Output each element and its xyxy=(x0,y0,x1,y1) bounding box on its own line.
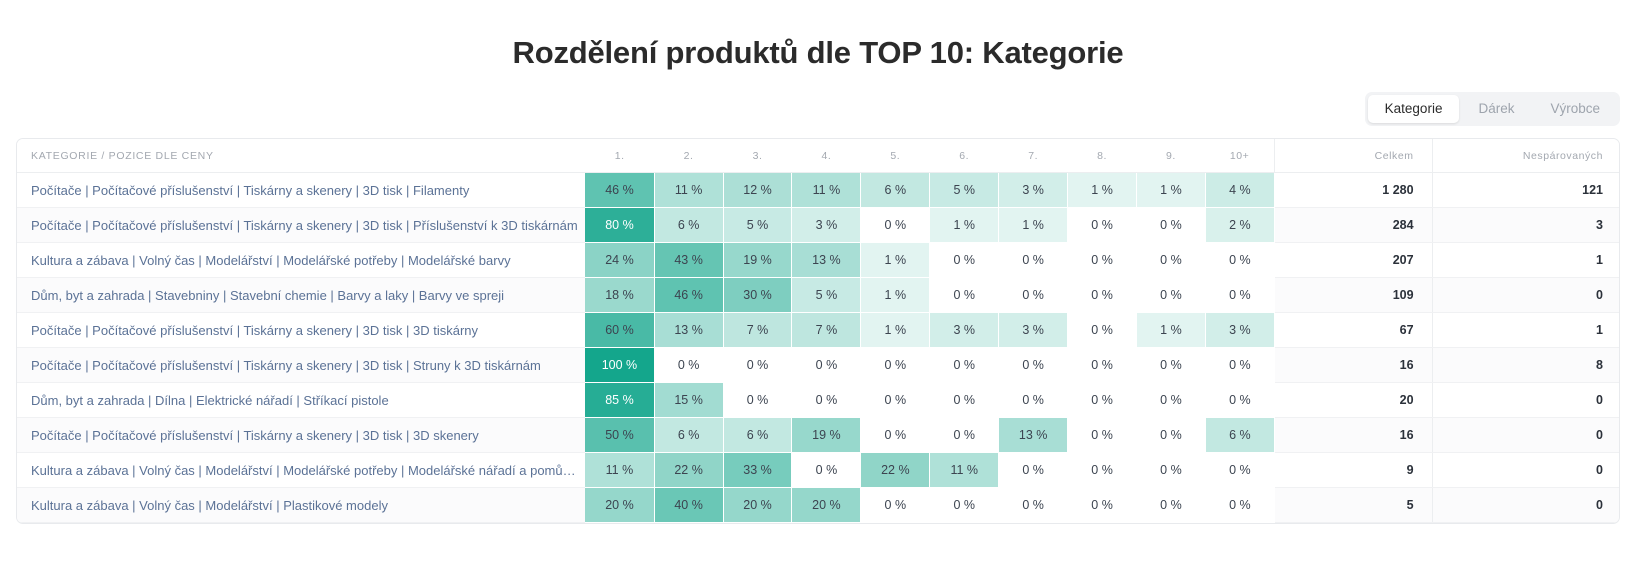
heatmap-cell[interactable]: 0 % xyxy=(930,488,999,523)
table-row[interactable]: Kultura a zábava | Volný čas | Modelářst… xyxy=(17,243,1619,278)
heatmap-cell[interactable]: 46 % xyxy=(654,278,723,313)
heatmap-cell[interactable]: 13 % xyxy=(654,313,723,348)
matrix-card: KATEGORIE / POZICE DLE CENY1.2.3.4.5.6.7… xyxy=(16,138,1620,524)
column-header-position-9[interactable]: 9. xyxy=(1137,139,1206,173)
heatmap-cell[interactable]: 0 % xyxy=(792,348,861,383)
column-header-position-10plus[interactable]: 10+ xyxy=(1205,139,1274,173)
heatmap-cell[interactable]: 0 % xyxy=(930,278,999,313)
heatmap-cell[interactable]: 1 % xyxy=(861,313,930,348)
heatmap-cell[interactable]: 46 % xyxy=(585,173,654,208)
category-label[interactable]: Počítače | Počítačové příslušenství | Ti… xyxy=(17,208,585,243)
column-header-position-6[interactable]: 6. xyxy=(930,139,999,173)
heatmap-cell[interactable]: 24 % xyxy=(585,243,654,278)
category-label[interactable]: Počítače | Počítačové příslušenství | Ti… xyxy=(17,418,585,453)
table-header-row: KATEGORIE / POZICE DLE CENY1.2.3.4.5.6.7… xyxy=(17,139,1619,173)
heatmap-cell[interactable]: 0 % xyxy=(1205,383,1274,418)
heatmap-cell[interactable]: 0 % xyxy=(1068,348,1137,383)
unmatched-value: 0 xyxy=(1432,488,1619,523)
heatmap-cell[interactable]: 1 % xyxy=(930,208,999,243)
heatmap-cell[interactable]: 13 % xyxy=(999,418,1068,453)
category-label[interactable]: Dům, byt a zahrada | Dílna | Elektrické … xyxy=(17,383,585,418)
total-value: 109 xyxy=(1274,278,1432,313)
page-title: Rozdělení produktů dle TOP 10: Kategorie xyxy=(0,32,1636,74)
heatmap-cell[interactable]: 0 % xyxy=(1068,488,1137,523)
total-value: 20 xyxy=(1274,383,1432,418)
total-value: 5 xyxy=(1274,488,1432,523)
table-row[interactable]: Kultura a zábava | Volný čas | Modelářst… xyxy=(17,453,1619,488)
heatmap-cell[interactable]: 1 % xyxy=(861,243,930,278)
heatmap-cell[interactable]: 0 % xyxy=(1068,383,1137,418)
heatmap-cell[interactable]: 15 % xyxy=(654,383,723,418)
heatmap-cell[interactable]: 11 % xyxy=(930,453,999,488)
heatmap-cell[interactable]: 5 % xyxy=(723,208,792,243)
heatmap-cell[interactable]: 0 % xyxy=(1137,418,1206,453)
heatmap-cell[interactable]: 0 % xyxy=(723,383,792,418)
heatmap-cell[interactable]: 40 % xyxy=(654,488,723,523)
heatmap-cell[interactable]: 0 % xyxy=(999,348,1068,383)
heatmap-cell[interactable]: 1 % xyxy=(1068,173,1137,208)
heatmap-cell[interactable]: 6 % xyxy=(1205,418,1274,453)
heatmap-cell[interactable]: 0 % xyxy=(1068,243,1137,278)
heatmap-cell[interactable]: 11 % xyxy=(792,173,861,208)
toggle-option-3[interactable]: Výrobce xyxy=(1533,95,1617,123)
column-header-position-1[interactable]: 1. xyxy=(585,139,654,173)
heatmap-cell[interactable]: 0 % xyxy=(1068,208,1137,243)
total-value: 16 xyxy=(1274,348,1432,383)
heatmap-cell[interactable]: 30 % xyxy=(723,278,792,313)
heatmap-cell[interactable]: 43 % xyxy=(654,243,723,278)
heatmap-cell[interactable]: 0 % xyxy=(999,488,1068,523)
heatmap-cell[interactable]: 0 % xyxy=(1205,243,1274,278)
category-label[interactable]: Dům, byt a zahrada | Stavebniny | Staveb… xyxy=(17,278,585,313)
heatmap-cell[interactable]: 22 % xyxy=(654,453,723,488)
total-value: 1 280 xyxy=(1274,173,1432,208)
heatmap-cell[interactable]: 0 % xyxy=(1137,348,1206,383)
heatmap-cell[interactable]: 1 % xyxy=(1137,173,1206,208)
heatmap-cell[interactable]: 1 % xyxy=(1137,313,1206,348)
heatmap-cell[interactable]: 50 % xyxy=(585,418,654,453)
column-header-unmatched[interactable]: Nespárovaných xyxy=(1432,139,1619,173)
heatmap-cell[interactable]: 100 % xyxy=(585,348,654,383)
column-header-position-3[interactable]: 3. xyxy=(723,139,792,173)
heatmap-cell[interactable]: 0 % xyxy=(792,383,861,418)
unmatched-value: 3 xyxy=(1432,208,1619,243)
heatmap-cell[interactable]: 0 % xyxy=(861,348,930,383)
unmatched-value: 0 xyxy=(1432,453,1619,488)
heatmap-cell[interactable]: 0 % xyxy=(930,348,999,383)
heatmap-cell[interactable]: 0 % xyxy=(1068,418,1137,453)
column-header-category[interactable]: KATEGORIE / POZICE DLE CENY xyxy=(17,139,585,173)
heatmap-cell[interactable]: 18 % xyxy=(585,278,654,313)
heatmap-cell[interactable]: 0 % xyxy=(1068,278,1137,313)
heatmap-cell[interactable]: 20 % xyxy=(792,488,861,523)
total-value: 9 xyxy=(1274,453,1432,488)
heatmap-cell[interactable]: 0 % xyxy=(1205,453,1274,488)
heatmap-cell[interactable]: 7 % xyxy=(792,313,861,348)
category-label[interactable]: Počítače | Počítačové příslušenství | Ti… xyxy=(17,173,585,208)
heatmap-cell[interactable]: 7 % xyxy=(723,313,792,348)
table-row[interactable]: Počítače | Počítačové příslušenství | Ti… xyxy=(17,418,1619,453)
column-header-position-2[interactable]: 2. xyxy=(654,139,723,173)
total-value: 284 xyxy=(1274,208,1432,243)
heatmap-cell[interactable]: 6 % xyxy=(654,208,723,243)
heatmap-cell[interactable]: 1 % xyxy=(861,278,930,313)
distribution-table: KATEGORIE / POZICE DLE CENY1.2.3.4.5.6.7… xyxy=(17,139,1619,523)
heatmap-cell[interactable]: 12 % xyxy=(723,173,792,208)
heatmap-cell[interactable]: 6 % xyxy=(861,173,930,208)
heatmap-cell[interactable]: 0 % xyxy=(1205,278,1274,313)
category-label[interactable]: Počítače | Počítačové příslušenství | Ti… xyxy=(17,313,585,348)
heatmap-cell[interactable]: 0 % xyxy=(1205,488,1274,523)
heatmap-cell[interactable]: 0 % xyxy=(999,383,1068,418)
heatmap-cell[interactable]: 22 % xyxy=(861,453,930,488)
total-value: 207 xyxy=(1274,243,1432,278)
heatmap-cell[interactable]: 6 % xyxy=(654,418,723,453)
heatmap-cell[interactable]: 0 % xyxy=(861,418,930,453)
heatmap-cell[interactable]: 3 % xyxy=(999,313,1068,348)
heatmap-cell[interactable]: 19 % xyxy=(792,418,861,453)
heatmap-cell[interactable]: 0 % xyxy=(1137,453,1206,488)
heatmap-cell[interactable]: 0 % xyxy=(1137,488,1206,523)
heatmap-cell[interactable]: 0 % xyxy=(861,383,930,418)
heatmap-cell[interactable]: 0 % xyxy=(1068,453,1137,488)
heatmap-cell[interactable]: 0 % xyxy=(1137,278,1206,313)
view-toggle-wrapper: KategorieDárekVýrobce xyxy=(0,92,1636,126)
column-header-position-5[interactable]: 5. xyxy=(861,139,930,173)
heatmap-cell[interactable]: 3 % xyxy=(930,313,999,348)
heatmap-cell[interactable]: 20 % xyxy=(723,488,792,523)
heatmap-cell[interactable]: 11 % xyxy=(654,173,723,208)
total-value: 67 xyxy=(1274,313,1432,348)
category-label[interactable]: Kultura a zábava | Volný čas | Modelářst… xyxy=(17,243,585,278)
heatmap-cell[interactable]: 0 % xyxy=(723,348,792,383)
table-row[interactable]: Počítače | Počítačové příslušenství | Ti… xyxy=(17,208,1619,243)
unmatched-value: 1 xyxy=(1432,243,1619,278)
heatmap-cell[interactable]: 0 % xyxy=(1068,313,1137,348)
heatmap-cell[interactable]: 85 % xyxy=(585,383,654,418)
column-header-position-4[interactable]: 4. xyxy=(792,139,861,173)
table-row[interactable]: Dům, byt a zahrada | Stavebniny | Staveb… xyxy=(17,278,1619,313)
table-row[interactable]: Dům, byt a zahrada | Dílna | Elektrické … xyxy=(17,383,1619,418)
heatmap-cell[interactable]: 3 % xyxy=(999,173,1068,208)
table-row[interactable]: Počítače | Počítačové příslušenství | Ti… xyxy=(17,313,1619,348)
heatmap-cell[interactable]: 11 % xyxy=(585,453,654,488)
heatmap-cell[interactable]: 0 % xyxy=(1137,208,1206,243)
unmatched-value: 8 xyxy=(1432,348,1619,383)
heatmap-cell[interactable]: 3 % xyxy=(1205,313,1274,348)
toggle-option-1[interactable]: Kategorie xyxy=(1368,95,1460,123)
unmatched-value: 121 xyxy=(1432,173,1619,208)
column-header-total[interactable]: Celkem xyxy=(1274,139,1432,173)
category-label[interactable]: Počítače | Počítačové příslušenství | Ti… xyxy=(17,348,585,383)
heatmap-cell[interactable]: 0 % xyxy=(1137,383,1206,418)
heatmap-cell[interactable]: 0 % xyxy=(654,348,723,383)
heatmap-cell[interactable]: 33 % xyxy=(723,453,792,488)
heatmap-cell[interactable]: 0 % xyxy=(999,453,1068,488)
heatmap-cell[interactable]: 0 % xyxy=(930,418,999,453)
toggle-option-2[interactable]: Dárek xyxy=(1461,95,1531,123)
heatmap-cell[interactable]: 0 % xyxy=(930,383,999,418)
heatmap-cell[interactable]: 0 % xyxy=(1205,348,1274,383)
heatmap-cell[interactable]: 0 % xyxy=(861,208,930,243)
heatmap-cell[interactable]: 6 % xyxy=(723,418,792,453)
heatmap-cell[interactable]: 1 % xyxy=(999,208,1068,243)
heatmap-cell[interactable]: 0 % xyxy=(930,243,999,278)
page-root: Rozdělení produktů dle TOP 10: Kategorie… xyxy=(0,0,1636,568)
unmatched-value: 0 xyxy=(1432,278,1619,313)
heatmap-cell[interactable]: 80 % xyxy=(585,208,654,243)
heatmap-cell[interactable]: 20 % xyxy=(585,488,654,523)
unmatched-value: 0 xyxy=(1432,418,1619,453)
heatmap-cell[interactable]: 13 % xyxy=(792,243,861,278)
column-header-position-8[interactable]: 8. xyxy=(1068,139,1137,173)
unmatched-value: 1 xyxy=(1432,313,1619,348)
heatmap-cell[interactable]: 0 % xyxy=(999,243,1068,278)
heatmap-cell[interactable]: 0 % xyxy=(792,453,861,488)
heatmap-cell[interactable]: 4 % xyxy=(1205,173,1274,208)
table-body: Počítače | Počítačové příslušenství | Ti… xyxy=(17,173,1619,523)
category-label[interactable]: Kultura a zábava | Volný čas | Modelářst… xyxy=(17,453,585,488)
table-row[interactable]: Kultura a zábava | Volný čas | Modelářst… xyxy=(17,488,1619,523)
column-header-position-7[interactable]: 7. xyxy=(999,139,1068,173)
heatmap-cell[interactable]: 2 % xyxy=(1205,208,1274,243)
heatmap-cell[interactable]: 3 % xyxy=(792,208,861,243)
heatmap-cell[interactable]: 0 % xyxy=(861,488,930,523)
table-row[interactable]: Počítače | Počítačové příslušenství | Ti… xyxy=(17,348,1619,383)
heatmap-cell[interactable]: 60 % xyxy=(585,313,654,348)
total-value: 16 xyxy=(1274,418,1432,453)
table-header: KATEGORIE / POZICE DLE CENY1.2.3.4.5.6.7… xyxy=(17,139,1619,173)
heatmap-cell[interactable]: 5 % xyxy=(792,278,861,313)
view-toggle-group[interactable]: KategorieDárekVýrobce xyxy=(1365,92,1620,126)
heatmap-cell[interactable]: 19 % xyxy=(723,243,792,278)
heatmap-cell[interactable]: 0 % xyxy=(999,278,1068,313)
unmatched-value: 0 xyxy=(1432,383,1619,418)
heatmap-cell[interactable]: 5 % xyxy=(930,173,999,208)
category-label[interactable]: Kultura a zábava | Volný čas | Modelářst… xyxy=(17,488,585,523)
table-row[interactable]: Počítače | Počítačové příslušenství | Ti… xyxy=(17,173,1619,208)
heatmap-cell[interactable]: 0 % xyxy=(1137,243,1206,278)
